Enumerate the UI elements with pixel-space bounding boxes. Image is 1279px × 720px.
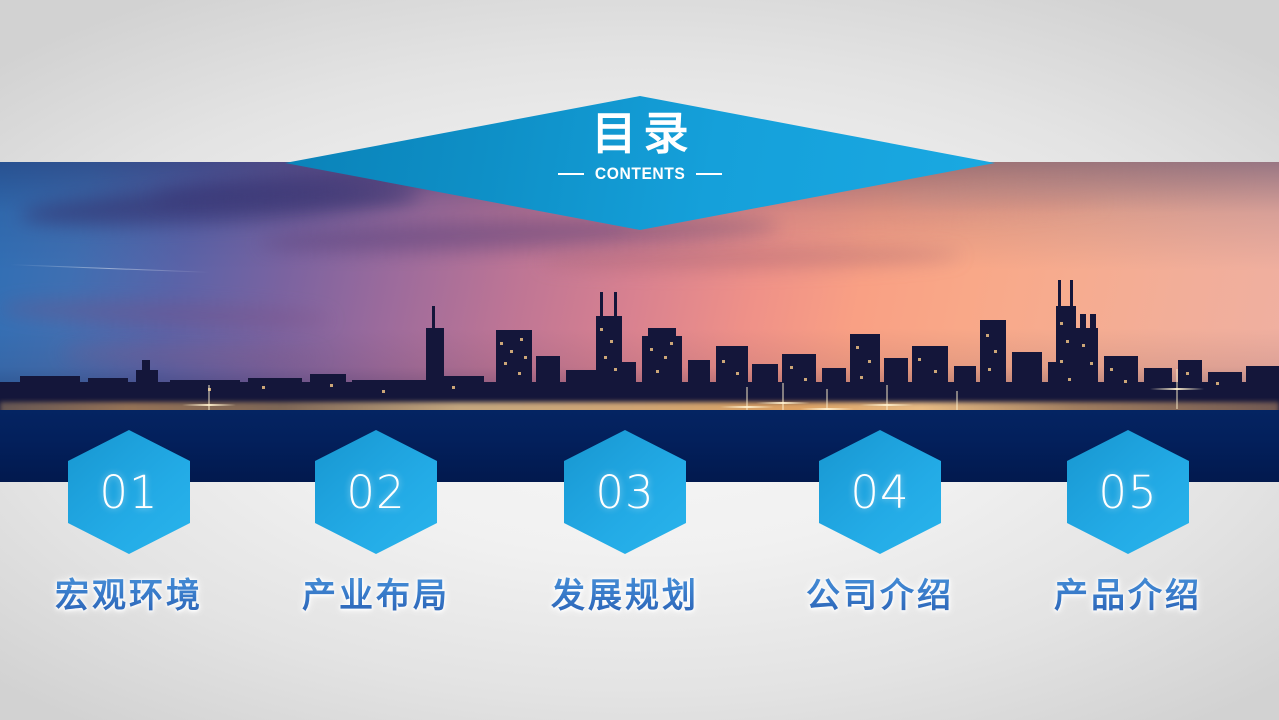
agenda-item-label: 公司介绍 [755, 568, 1005, 617]
hexagon-badge[interactable]: 05 [1067, 430, 1189, 554]
agenda-item-number: 04 [819, 430, 941, 554]
agenda-item-number: 01 [68, 430, 190, 554]
agenda-item-label: 产业布局 [251, 568, 501, 617]
hexagon-badge[interactable]: 01 [68, 430, 190, 554]
hexagon-badge[interactable]: 03 [564, 430, 686, 554]
hexagon-badge[interactable]: 02 [315, 430, 437, 554]
agenda-item-01[interactable]: 01 宏观环境 [4, 430, 254, 617]
agenda-item-label: 宏观环境 [4, 568, 254, 617]
hexagon-badge[interactable]: 04 [819, 430, 941, 554]
agenda-list: 01 宏观环境 02 产业布局 03 发展规划 04 公司介绍 [0, 0, 1279, 720]
agenda-item-number: 03 [564, 430, 686, 554]
agenda-item-label: 产品介绍 [1003, 568, 1253, 617]
agenda-item-04[interactable]: 04 公司介绍 [755, 430, 1005, 617]
agenda-item-05[interactable]: 05 产品介绍 [1003, 430, 1253, 617]
agenda-item-03[interactable]: 03 发展规划 [500, 430, 750, 617]
agenda-item-number: 05 [1067, 430, 1189, 554]
agenda-item-number: 02 [315, 430, 437, 554]
agenda-item-02[interactable]: 02 产业布局 [251, 430, 501, 617]
agenda-item-label: 发展规划 [500, 568, 750, 617]
slide-canvas: 目录 CONTENTS 01 宏观环境 02 产业布局 03 [0, 0, 1279, 720]
